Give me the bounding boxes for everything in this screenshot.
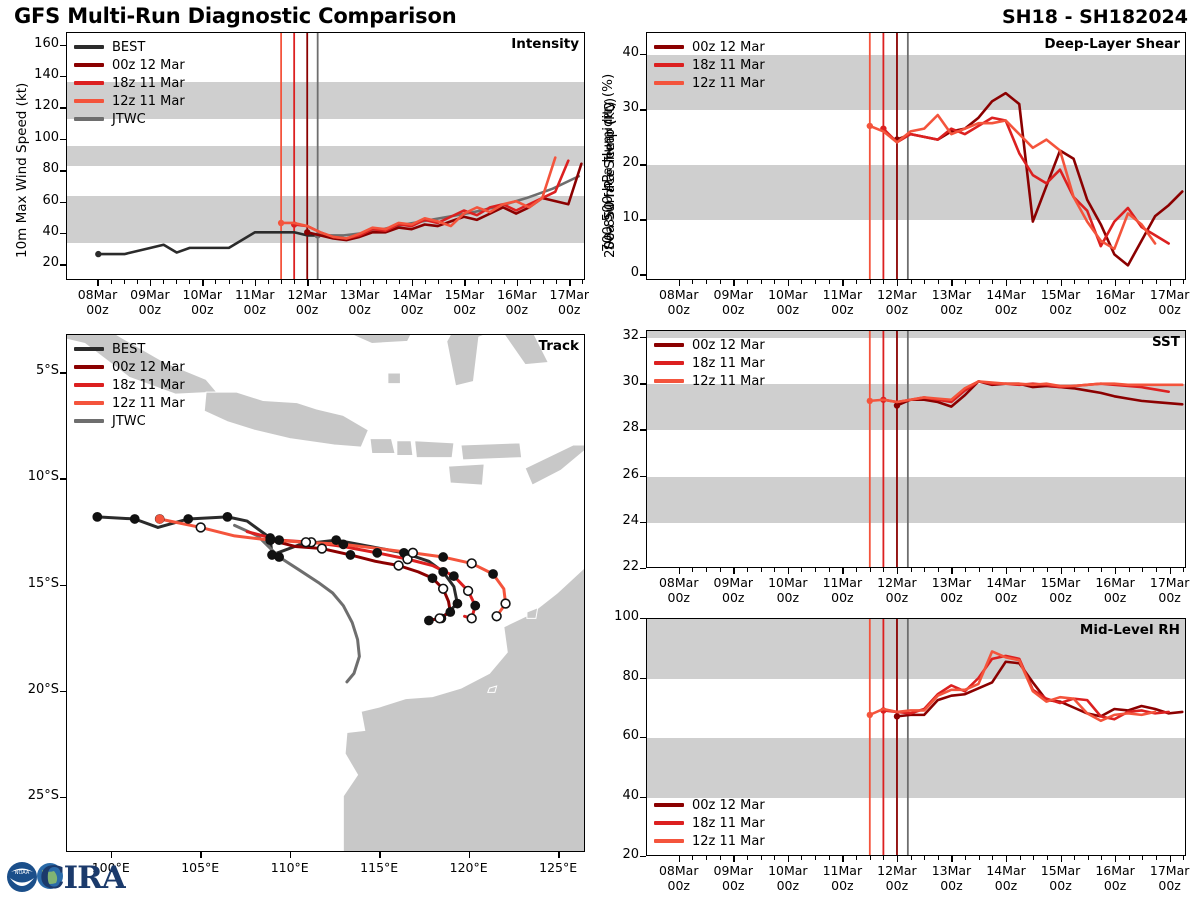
y-tick-label: 28 — [595, 420, 639, 435]
x-tick-mark — [307, 280, 308, 286]
x-minor-tick — [774, 568, 775, 572]
x-tick-date: 13Mar — [340, 287, 380, 302]
legend-line-swatch-icon — [74, 99, 104, 103]
x-minor-tick — [320, 280, 321, 284]
y-tick-mark — [640, 678, 646, 679]
track-marker-00z — [266, 536, 275, 545]
y-tick-mark — [640, 274, 646, 275]
x-tick-date: 11Mar — [823, 863, 863, 878]
x-minor-tick — [815, 568, 816, 572]
x-minor-tick — [137, 280, 138, 284]
track-marker-00z — [428, 574, 437, 583]
x-minor-tick — [215, 280, 216, 284]
y-tick-mark — [60, 233, 66, 234]
x-minor-tick — [1047, 280, 1048, 284]
y-tick-label: 80 — [595, 669, 639, 684]
x-tick-date: 08Mar — [78, 287, 118, 302]
x-tick-hour: 00z — [777, 590, 799, 605]
x-tick-hour: 00z — [668, 302, 690, 317]
x-tick-hour: 00z — [1104, 302, 1126, 317]
y-tick-label: 22 — [595, 559, 639, 574]
sst-legend-item[interactable]: 18z 11 Mar — [654, 354, 765, 372]
y-tick-label: 0 — [595, 265, 639, 280]
landmass-island-small-2 — [527, 608, 538, 619]
y-tick-mark — [60, 76, 66, 77]
series-start-marker — [95, 251, 101, 257]
x-minor-tick — [747, 568, 748, 572]
x-minor-tick — [911, 568, 912, 572]
track-lon-tick — [558, 852, 559, 858]
x-minor-tick — [189, 280, 190, 284]
cira-text: CIRA — [40, 860, 126, 896]
shear-panel-title: Deep-Layer Shear — [1044, 36, 1180, 52]
x-minor-tick — [491, 280, 492, 284]
legend-line-swatch-icon — [654, 821, 684, 825]
track-marker-12z — [318, 544, 327, 553]
track-marker-12z — [394, 561, 403, 570]
diagnostic-page: GFS Multi-Run Diagnostic Comparison SH18… — [0, 0, 1200, 900]
x-tick-date: 15Mar — [1041, 575, 1081, 590]
x-tick-hour: 00z — [139, 302, 161, 317]
x-minor-tick — [992, 568, 993, 572]
shear-legend-item[interactable]: 00z 12 Mar — [654, 38, 765, 56]
landmass-flores — [461, 443, 522, 460]
x-minor-tick — [883, 568, 884, 572]
x-minor-tick — [1142, 568, 1143, 572]
x-minor-tick — [801, 856, 802, 860]
x-minor-tick — [1101, 568, 1102, 572]
rh-legend-item[interactable]: 12z 11 Mar — [654, 832, 765, 850]
x-tick-hour: 00z — [886, 302, 908, 317]
y-tick-mark — [640, 109, 646, 110]
track-lon-tick — [469, 852, 470, 858]
legend-line-swatch-icon — [74, 419, 104, 423]
panel-track: Track BEST00z 12 Mar18z 11 Mar12z 11 Mar… — [66, 334, 585, 852]
legend-line-swatch-icon — [654, 343, 684, 347]
x-minor-tick — [1088, 280, 1089, 284]
x-tick-date: 17Mar — [1150, 287, 1190, 302]
track-lat-label: 20°S — [11, 682, 59, 697]
rh-legend-item[interactable]: 18z 11 Mar — [654, 814, 765, 832]
x-minor-tick — [1020, 568, 1021, 572]
x-tick-date: 17Mar — [1150, 575, 1190, 590]
track-marker-00z — [223, 512, 232, 521]
x-tick-mark — [842, 856, 843, 862]
x-minor-tick — [1074, 280, 1075, 284]
x-tick-mark — [897, 280, 898, 286]
x-tick-mark — [679, 856, 680, 862]
y-tick-label: 32 — [595, 328, 639, 343]
legend-label: 18z 11 Mar — [692, 58, 765, 73]
x-tick-mark — [897, 568, 898, 574]
x-tick-mark — [1170, 856, 1171, 862]
x-minor-tick — [1183, 568, 1184, 572]
svg-text:NOAA: NOAA — [15, 870, 30, 876]
y-tick-label: 20 — [595, 847, 639, 862]
track-marker-00z — [439, 567, 448, 576]
track-lat-label: 25°S — [11, 788, 59, 803]
track-lat-tick — [60, 797, 66, 798]
x-minor-tick — [346, 280, 347, 284]
intensity-legend-item[interactable]: 18z 11 Mar — [74, 74, 185, 92]
x-tick-hour: 00z — [1158, 878, 1180, 893]
landmass-sumba — [449, 464, 485, 485]
x-tick-hour: 00z — [1049, 590, 1071, 605]
track-lat-tick — [60, 478, 66, 479]
x-minor-tick — [530, 280, 531, 284]
track-marker-00z — [346, 551, 355, 560]
x-minor-tick — [924, 568, 925, 572]
x-tick-hour: 00z — [831, 302, 853, 317]
legend-line-swatch-icon — [654, 81, 684, 85]
track-marker-00z — [489, 570, 498, 579]
landmass-java — [204, 392, 368, 447]
x-minor-tick — [720, 856, 721, 860]
x-minor-tick — [883, 280, 884, 284]
x-minor-tick — [692, 568, 693, 572]
legend-line-swatch-icon — [74, 117, 104, 121]
x-tick-date: 13Mar — [932, 863, 972, 878]
x-tick-mark — [1061, 856, 1062, 862]
x-minor-tick — [924, 280, 925, 284]
x-tick-date: 11Mar — [235, 287, 275, 302]
y-tick-mark — [640, 522, 646, 523]
x-minor-tick — [829, 856, 830, 860]
x-minor-tick — [774, 280, 775, 284]
y-tick-mark — [60, 202, 66, 203]
legend-line-swatch-icon — [74, 401, 104, 405]
series-start-marker — [278, 220, 284, 226]
track-marker-12z — [439, 584, 448, 593]
y-tick-mark — [640, 383, 646, 384]
landmass-laut — [388, 373, 401, 384]
legend-line-swatch-icon — [654, 361, 684, 365]
x-minor-tick — [111, 280, 112, 284]
x-tick-date: 10Mar — [768, 287, 808, 302]
x-tick-hour: 00z — [191, 302, 213, 317]
x-minor-tick — [747, 280, 748, 284]
x-minor-tick — [268, 280, 269, 284]
track-lat-label: 15°S — [11, 576, 59, 591]
x-minor-tick — [924, 856, 925, 860]
legend-line-swatch-icon — [654, 803, 684, 807]
x-minor-tick — [1129, 568, 1130, 572]
x-minor-tick — [870, 280, 871, 284]
x-tick-date: 14Mar — [986, 287, 1026, 302]
y-tick-mark — [60, 264, 66, 265]
x-minor-tick — [1020, 280, 1021, 284]
track-lon-tick — [379, 852, 380, 858]
series-start-marker — [867, 123, 873, 129]
y-tick-mark — [60, 45, 66, 46]
series-line — [883, 118, 1168, 246]
x-minor-tick — [761, 280, 762, 284]
x-tick-mark — [569, 280, 570, 286]
x-tick-hour: 00z — [886, 878, 908, 893]
track-lon-tick — [200, 852, 201, 858]
track-marker-00z — [93, 512, 102, 521]
track-marker-00z — [275, 536, 284, 545]
x-minor-tick — [1074, 856, 1075, 860]
x-minor-tick — [720, 568, 721, 572]
x-minor-tick — [706, 568, 707, 572]
landmass-timor — [525, 445, 585, 485]
track-marker-12z — [467, 559, 476, 568]
legend-line-swatch-icon — [74, 383, 104, 387]
x-minor-tick — [163, 280, 164, 284]
x-tick-hour: 00z — [1158, 302, 1180, 317]
legend-label: 12z 11 Mar — [112, 94, 185, 109]
legend-label: BEST — [112, 40, 145, 55]
x-minor-tick — [911, 280, 912, 284]
x-minor-tick — [543, 280, 544, 284]
x-tick-mark — [255, 280, 256, 286]
track-marker-00z — [446, 608, 455, 617]
legend-label: 18z 11 Mar — [112, 76, 185, 91]
y-tick-mark — [640, 164, 646, 165]
x-minor-tick — [856, 856, 857, 860]
series-line — [307, 164, 581, 240]
x-tick-hour: 00z — [940, 878, 962, 893]
track-lon-label: 105°E — [165, 860, 235, 875]
legend-label: 00z 12 Mar — [692, 798, 765, 813]
series-start-marker — [867, 712, 873, 718]
intensity-legend-item[interactable]: BEST — [74, 38, 185, 56]
x-minor-tick — [938, 280, 939, 284]
x-minor-tick — [582, 280, 583, 284]
x-minor-tick — [556, 280, 557, 284]
y-tick-label: 40 — [595, 788, 639, 803]
x-minor-tick — [801, 280, 802, 284]
y-tick-label: 26 — [595, 467, 639, 482]
shear-legend-item[interactable]: 12z 11 Mar — [654, 74, 765, 92]
legend-label: 00z 12 Mar — [692, 40, 765, 55]
storm-id-title: SH18 - SH182024 — [1002, 6, 1188, 28]
track-lon-label: 110°E — [255, 860, 325, 875]
series-line — [318, 176, 579, 235]
x-tick-hour: 00z — [886, 590, 908, 605]
x-minor-tick — [692, 280, 693, 284]
x-tick-mark — [788, 568, 789, 574]
x-minor-tick — [747, 856, 748, 860]
x-minor-tick — [1047, 568, 1048, 572]
x-minor-tick — [856, 568, 857, 572]
x-minor-tick — [425, 280, 426, 284]
track-legend-item[interactable]: 00z 12 Mar — [74, 358, 185, 376]
x-tick-mark — [679, 568, 680, 574]
y-tick-mark — [640, 568, 646, 569]
sst-legend-item[interactable]: 00z 12 Mar — [654, 336, 765, 354]
track-marker-12z — [196, 523, 205, 532]
x-tick-mark — [1170, 568, 1171, 574]
x-tick-mark — [1006, 856, 1007, 862]
x-tick-mark — [464, 280, 465, 286]
x-tick-mark — [733, 568, 734, 574]
legend-line-swatch-icon — [74, 81, 104, 85]
x-tick-date: 09Mar — [714, 575, 754, 590]
x-tick-mark — [951, 280, 952, 286]
intensity-y-label: 10m Max Wind Speed (kt) — [14, 83, 30, 258]
track-legend-item[interactable]: 12z 11 Mar — [74, 394, 185, 412]
legend-label: 12z 11 Mar — [692, 834, 765, 849]
x-tick-mark — [1061, 568, 1062, 574]
track-lat-label: 10°S — [11, 469, 59, 484]
track-legend-item[interactable]: JTWC — [74, 412, 185, 430]
sst-legend: 00z 12 Mar18z 11 Mar12z 11 Mar — [654, 336, 765, 390]
intensity-legend-item[interactable]: 12z 11 Mar — [74, 92, 185, 110]
x-tick-hour: 00z — [243, 302, 265, 317]
x-tick-hour: 00z — [831, 878, 853, 893]
x-tick-date: 16Mar — [497, 287, 537, 302]
track-marker-00z — [471, 601, 480, 610]
x-minor-tick — [1129, 280, 1130, 284]
y-tick-label: 40 — [595, 45, 639, 60]
x-tick-date: 12Mar — [287, 287, 327, 302]
rh-legend-item[interactable]: 00z 12 Mar — [654, 796, 765, 814]
x-tick-hour: 00z — [1158, 590, 1180, 605]
track-line — [235, 525, 360, 681]
series-start-marker — [304, 229, 310, 235]
legend-label: JTWC — [112, 414, 146, 429]
track-marker-12z — [467, 614, 476, 623]
landmass-sumbawa — [415, 441, 454, 458]
x-tick-date: 09Mar — [714, 863, 754, 878]
track-marker-00z — [130, 515, 139, 524]
shear-legend-item[interactable]: 18z 11 Mar — [654, 56, 765, 74]
track-marker-00z — [439, 553, 448, 562]
intensity-legend-item[interactable]: JTWC — [74, 110, 185, 128]
x-tick-date: 10Mar — [768, 575, 808, 590]
y-tick-mark — [640, 856, 646, 857]
sst-panel-title: SST — [1152, 334, 1180, 350]
x-minor-tick — [242, 280, 243, 284]
y-tick-mark — [640, 618, 646, 619]
x-minor-tick — [870, 856, 871, 860]
intensity-legend-item[interactable]: 00z 12 Mar — [74, 56, 185, 74]
x-tick-hour: 00z — [86, 302, 108, 317]
panel-rh: Mid-Level RH 00z 12 Mar18z 11 Mar12z 11 … — [646, 618, 1186, 856]
x-tick-mark — [1115, 280, 1116, 286]
x-minor-tick — [1183, 280, 1184, 284]
sst-legend-item[interactable]: 12z 11 Mar — [654, 372, 765, 390]
landmass-lombok — [397, 441, 413, 456]
x-tick-mark — [679, 280, 680, 286]
x-minor-tick — [1088, 568, 1089, 572]
x-tick-mark — [150, 280, 151, 286]
x-tick-hour: 00z — [1104, 878, 1126, 893]
track-lat-label: 5°S — [11, 363, 59, 378]
track-lat-tick — [60, 585, 66, 586]
track-marker-12z — [501, 599, 510, 608]
x-minor-tick — [386, 280, 387, 284]
legend-line-swatch-icon — [654, 63, 684, 67]
x-tick-date: 16Mar — [1095, 575, 1135, 590]
legend-line-swatch-icon — [654, 379, 684, 383]
x-tick-date: 08Mar — [659, 863, 699, 878]
x-tick-hour: 00z — [831, 590, 853, 605]
track-start-marker-12z-11mar — [155, 514, 164, 523]
x-minor-tick — [801, 568, 802, 572]
x-tick-hour: 00z — [668, 590, 690, 605]
x-minor-tick — [124, 280, 125, 284]
x-tick-date: 09Mar — [130, 287, 170, 302]
track-legend-item[interactable]: BEST — [74, 340, 185, 358]
x-minor-tick — [451, 280, 452, 284]
x-tick-hour: 00z — [401, 302, 423, 317]
x-minor-tick — [1047, 856, 1048, 860]
x-tick-mark — [517, 280, 518, 286]
y-tick-label: 140 — [15, 67, 59, 82]
x-minor-tick — [911, 856, 912, 860]
x-tick-hour: 00z — [296, 302, 318, 317]
x-tick-date: 15Mar — [445, 287, 485, 302]
x-tick-hour: 00z — [940, 302, 962, 317]
page-title: GFS Multi-Run Diagnostic Comparison — [14, 4, 456, 28]
track-marker-00z — [449, 572, 458, 581]
legend-label: 12z 11 Mar — [692, 374, 765, 389]
x-tick-date: 12Mar — [877, 575, 917, 590]
x-minor-tick — [373, 280, 374, 284]
x-minor-tick — [229, 280, 230, 284]
panel-sst: SST 00z 12 Mar18z 11 Mar12z 11 Mar 22242… — [646, 330, 1186, 568]
x-tick-mark — [951, 568, 952, 574]
track-lat-tick — [60, 691, 66, 692]
x-tick-date: 09Mar — [714, 287, 754, 302]
x-minor-tick — [1020, 856, 1021, 860]
x-tick-mark — [842, 280, 843, 286]
track-lat-tick — [60, 372, 66, 373]
x-tick-label: 17Mar00z — [1135, 863, 1200, 893]
x-tick-mark — [1115, 856, 1116, 862]
x-tick-date: 12Mar — [877, 287, 917, 302]
track-marker-00z — [339, 540, 348, 549]
x-minor-tick — [761, 568, 762, 572]
x-minor-tick — [992, 280, 993, 284]
x-tick-date: 15Mar — [1041, 287, 1081, 302]
x-tick-hour: 00z — [1049, 878, 1071, 893]
y-tick-mark — [60, 170, 66, 171]
track-panel-title: Track — [539, 338, 579, 354]
rh-y-label: 700-500 hPa Humidity (%) — [600, 74, 616, 252]
x-minor-tick — [938, 856, 939, 860]
track-lon-tick — [290, 852, 291, 858]
series-line — [98, 232, 317, 254]
x-tick-date: 13Mar — [932, 287, 972, 302]
x-tick-date: 08Mar — [659, 287, 699, 302]
y-tick-mark — [640, 54, 646, 55]
x-minor-tick — [856, 280, 857, 284]
track-lon-label: 115°E — [344, 860, 414, 875]
x-minor-tick — [1156, 856, 1157, 860]
track-legend-item[interactable]: 18z 11 Mar — [74, 376, 185, 394]
landmass-australia — [343, 563, 585, 852]
x-tick-date: 11Mar — [823, 575, 863, 590]
legend-label: 18z 11 Mar — [112, 378, 185, 393]
x-minor-tick — [829, 568, 830, 572]
x-minor-tick — [294, 280, 295, 284]
x-minor-tick — [1156, 568, 1157, 572]
series-start-marker — [867, 398, 873, 404]
track-marker-00z — [425, 616, 434, 625]
legend-label: 18z 11 Mar — [692, 816, 765, 831]
y-tick-label: 160 — [15, 36, 59, 51]
x-tick-mark — [951, 856, 952, 862]
x-tick-hour: 00z — [722, 878, 744, 893]
x-minor-tick — [1183, 856, 1184, 860]
x-minor-tick — [706, 280, 707, 284]
track-marker-12z — [464, 587, 473, 596]
panel-shear: Deep-Layer Shear 00z 12 Mar18z 11 Mar12z… — [646, 32, 1186, 280]
